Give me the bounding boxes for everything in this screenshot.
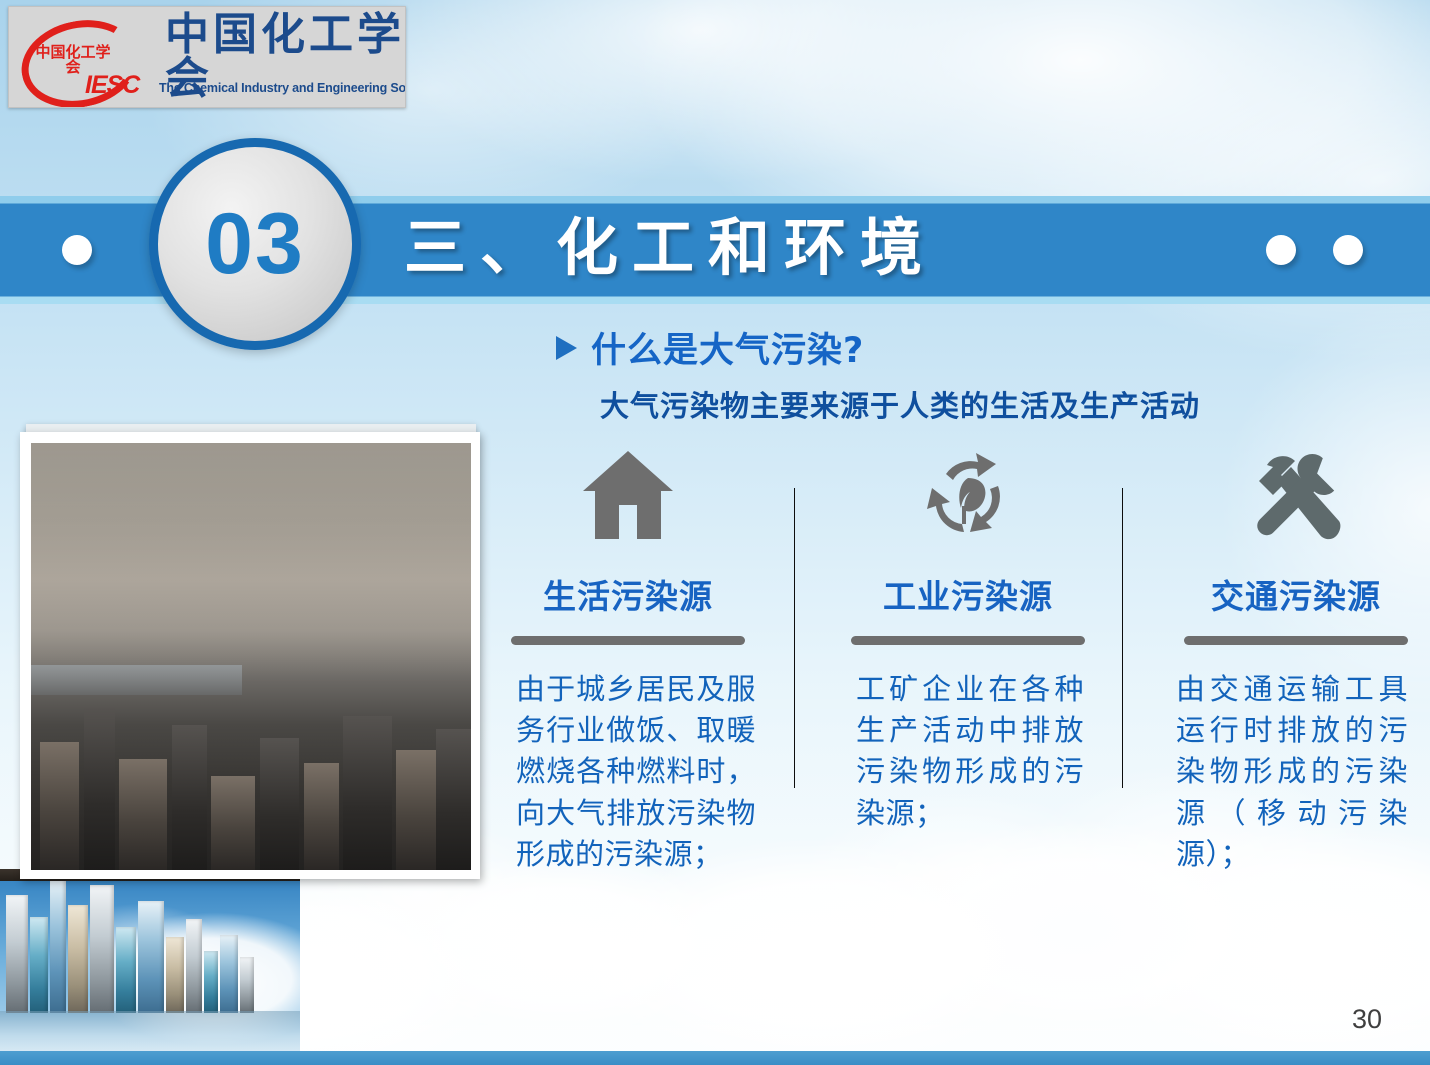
city-photo-frame xyxy=(20,432,480,879)
logo-abbrev: IESC xyxy=(85,71,139,100)
column-divider xyxy=(794,488,795,788)
column-underline xyxy=(1184,636,1408,645)
photo-building xyxy=(40,742,80,870)
skyline-tower xyxy=(68,905,88,1013)
photo-building xyxy=(396,750,436,870)
column-body-text: 由于城乡居民及服务行业做饭、取暖燃烧各种燃料时，向大气排放污染物形成的污染源； xyxy=(516,669,756,875)
column-divider xyxy=(1122,488,1123,788)
hammer-wrench-icon xyxy=(1168,436,1424,554)
skyline-tower xyxy=(240,957,254,1013)
section-number: 03 xyxy=(205,201,305,287)
smoggy-city-photo xyxy=(31,443,471,870)
skyline-tower xyxy=(186,919,202,1013)
pollution-source-column-1: 生活污染源 由于城乡居民及服务行业做饭、取暖燃烧各种燃料时，向大气排放污染物形成… xyxy=(500,436,756,875)
photo-building xyxy=(436,729,471,870)
question-text: 什么是大气污染? xyxy=(591,322,864,373)
skyline-tower xyxy=(166,937,184,1013)
photo-building xyxy=(304,763,339,870)
logo-name-en: The Chemical Industry and Engineering So… xyxy=(159,81,406,95)
pollution-source-column-3: 交通污染源 由交通运输工具运行时排放的污染物形成的污染源（移动污染源）； xyxy=(1168,436,1424,875)
skyline-tower xyxy=(90,885,114,1013)
page-number: 30 xyxy=(1352,1004,1382,1035)
skyline-tower xyxy=(220,935,238,1013)
bottom-accent-strip xyxy=(0,1051,1430,1065)
subtitle-text: 大气污染物主要来源于人类的生活及生产活动 xyxy=(600,383,1200,425)
skyline-graphic xyxy=(0,869,300,1065)
skyline-tower xyxy=(138,901,164,1013)
skyline-tower xyxy=(6,895,28,1013)
question-heading: 什么是大气污染? xyxy=(556,322,864,373)
photo-building xyxy=(260,738,300,870)
pollution-source-column-2: 工业污染源 工矿企业在各种生产活动中排放污染物形成的污染源； xyxy=(840,436,1096,834)
photo-haze-layer xyxy=(31,443,471,682)
logo-emblem-icon: 中国化工学会 IESC xyxy=(13,13,145,101)
house-icon xyxy=(500,436,756,554)
photo-building xyxy=(84,708,115,870)
skyline-tower xyxy=(50,879,66,1013)
photo-building xyxy=(119,759,167,870)
skyline-tower xyxy=(204,951,218,1013)
column-body-text: 工矿企业在各种生产活动中排放污染物形成的污染源； xyxy=(856,669,1084,834)
column-title: 工业污染源 xyxy=(840,570,1096,618)
photo-building xyxy=(211,776,255,870)
presentation-slide: 中国化工学会 IESC 中国化工学会 The Chemical Industry… xyxy=(0,0,1430,1065)
column-underline xyxy=(851,636,1085,645)
banner-dot xyxy=(1333,235,1363,265)
column-title: 交通污染源 xyxy=(1168,570,1424,618)
column-title: 生活污染源 xyxy=(500,570,756,618)
skyline-tower xyxy=(30,917,48,1013)
photo-river xyxy=(31,665,242,695)
banner-dot xyxy=(1266,235,1296,265)
banner-dot xyxy=(62,235,92,265)
column-body-text: 由交通运输工具运行时排放的污染物形成的污染源（移动污染源）； xyxy=(1176,669,1408,875)
recycle-leaf-icon xyxy=(840,436,1096,554)
arrow-bullet-icon xyxy=(556,336,577,360)
section-title: 三、化工和环境 xyxy=(404,212,936,283)
photo-building xyxy=(343,716,391,870)
skyline-tower xyxy=(116,927,136,1013)
society-logo: 中国化工学会 IESC 中国化工学会 The Chemical Industry… xyxy=(8,6,406,108)
photo-building xyxy=(172,725,207,870)
section-number-badge: 03 xyxy=(149,138,361,350)
column-underline xyxy=(511,636,745,645)
